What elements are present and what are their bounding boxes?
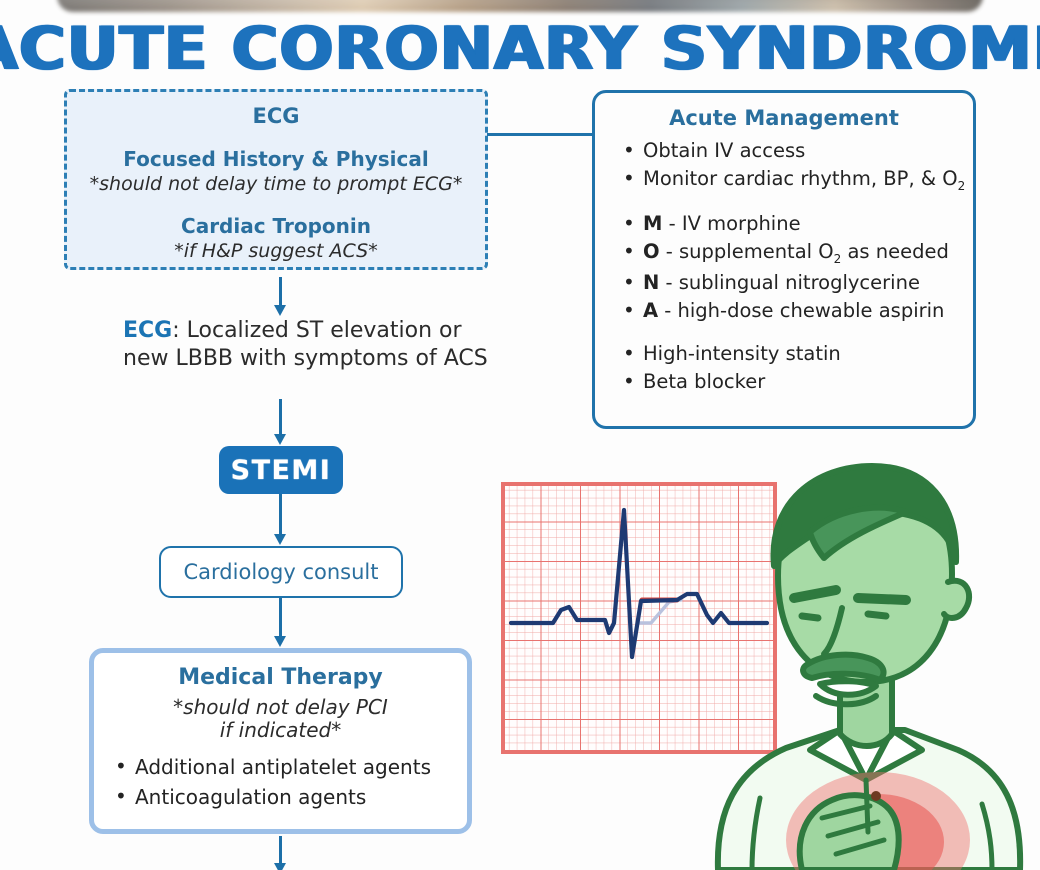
management-list-item: Obtain IV access bbox=[623, 137, 973, 165]
medical-therapy-heading: Medical Therapy bbox=[94, 665, 467, 690]
medical-therapy-note: *should not delay PCI if indicated* bbox=[94, 696, 467, 742]
stemi-badge: STEMI bbox=[219, 446, 343, 494]
stemi-badge-label: STEMI bbox=[231, 455, 332, 486]
medical-therapy-box: Medical Therapy *should not delay PCI if… bbox=[89, 648, 472, 834]
management-item-prefix: O bbox=[643, 240, 660, 263]
ecg-criteria-body: : Localized ST elevation or new LBBB wit… bbox=[123, 318, 488, 371]
connector-line-ecg-to-management bbox=[487, 133, 594, 136]
ecg-box-heading: ECG bbox=[67, 104, 485, 128]
management-list-item: M - IV morphine bbox=[623, 210, 973, 238]
ecg-box-note-1: *should not delay time to prompt ECG* bbox=[67, 173, 485, 195]
page-title: ACUTE CORONARY SYNDROME bbox=[0, 14, 1040, 84]
management-item-prefix: M bbox=[643, 212, 662, 235]
infographic-page: ACUTE CORONARY SYNDROME ECG Focused Hist… bbox=[0, 0, 1040, 870]
ecg-criteria-label: ECG bbox=[123, 318, 172, 343]
medical-therapy-note-line-2: if indicated* bbox=[220, 718, 342, 742]
management-list-item: O - supplemental O2 as needed bbox=[623, 238, 973, 268]
medical-therapy-note-line-1: *should not delay PCI bbox=[173, 695, 388, 719]
ecg-criteria-text: ECG: Localized ST elevation or new LBBB … bbox=[123, 317, 503, 372]
management-item-prefix: A bbox=[643, 299, 658, 322]
ecg-box-subheading-history: Focused History & Physical bbox=[67, 147, 485, 171]
cardiology-consult-box: Cardiology consult bbox=[159, 546, 403, 598]
management-list-item: Beta blocker bbox=[623, 368, 973, 396]
management-list-item: N - sublingual nitroglycerine bbox=[623, 269, 973, 297]
subscript: 2 bbox=[958, 179, 966, 193]
medical-therapy-list-item: Additional antiplatelet agents bbox=[115, 752, 467, 782]
management-item-prefix: N bbox=[643, 271, 659, 294]
management-list-item: Monitor cardiac rhythm, BP, & O2 bbox=[623, 165, 973, 195]
medical-therapy-list-item: Anticoagulation agents bbox=[115, 782, 467, 812]
subscript: 2 bbox=[834, 252, 842, 266]
management-list-item: High-intensity statin bbox=[623, 340, 973, 368]
management-heading: Acute Management bbox=[595, 106, 973, 130]
ecg-box-subheading-troponin: Cardiac Troponin bbox=[67, 214, 485, 238]
management-list-item: A - high-dose chewable aspirin bbox=[623, 297, 973, 325]
medical-therapy-list: Additional antiplatelet agentsAnticoagul… bbox=[94, 752, 467, 812]
patient-chest-pain-illustration bbox=[690, 458, 1040, 870]
top-photo-strip bbox=[57, 0, 983, 12]
acute-management-box: Acute Management Obtain IV accessMonitor… bbox=[592, 90, 976, 429]
cardiology-consult-label: Cardiology consult bbox=[184, 560, 379, 584]
management-list: Obtain IV accessMonitor cardiac rhythm, … bbox=[595, 137, 973, 397]
ecg-assessment-box: ECG Focused History & Physical *should n… bbox=[64, 89, 488, 270]
ecg-box-note-2: *if H&P suggest ACS* bbox=[67, 240, 485, 262]
